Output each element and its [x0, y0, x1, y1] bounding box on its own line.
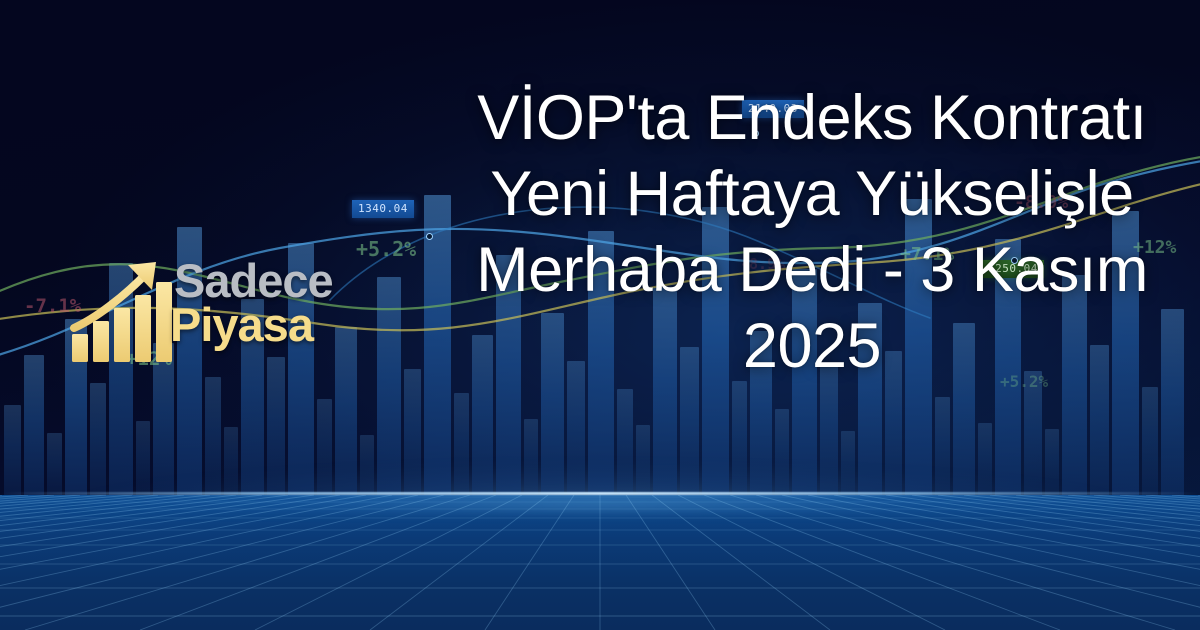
percent-change-label: +5.2%: [356, 237, 416, 261]
brand-logo: Sadece Piyasa: [70, 252, 340, 370]
brand-word-piyasa: Piyasa: [170, 300, 344, 350]
headline-title: VİOP'ta Endeks Kontratı Yeni Haftaya Yük…: [462, 80, 1162, 384]
price-tag: 1340.04: [352, 200, 414, 218]
data-point-marker: [426, 233, 433, 240]
share-card-canvas: 1340.042140.031250.04-7.1%+12%+5.2%+7.1%…: [0, 0, 1200, 630]
brand-wordmark: Sadece Piyasa: [174, 256, 344, 350]
ascending-bar-chart-with-arrow-icon: [70, 258, 182, 366]
